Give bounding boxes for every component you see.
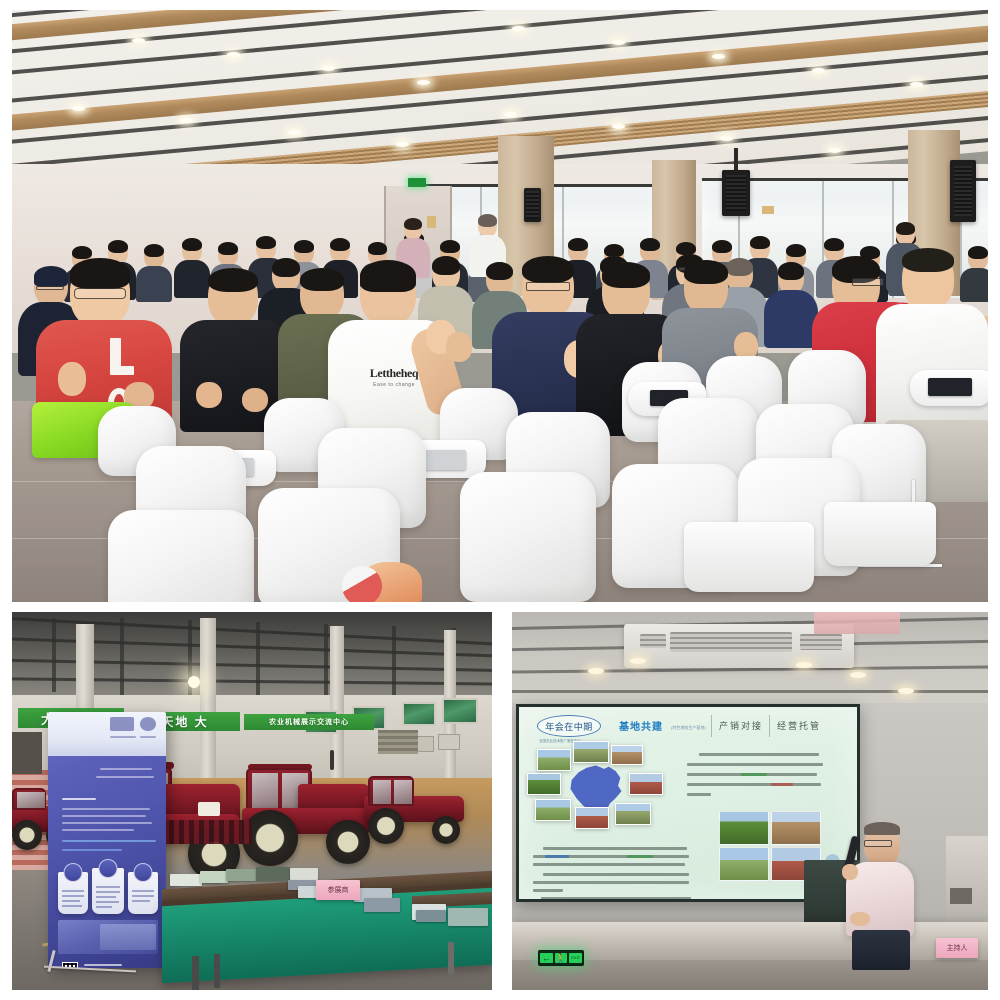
ceiling-downlight (898, 688, 914, 694)
rollup-header (48, 712, 166, 756)
slide-thumbnail (575, 807, 609, 829)
tractor-mid (234, 764, 380, 866)
photo-tractor-exhibition-hall: 大地农业 天地 大 农业机械展示交流中心 (12, 612, 492, 990)
wall-window (402, 702, 436, 726)
exit-arrow-icon: ← (540, 953, 553, 964)
slide-tab-active: 基地共建 (619, 717, 663, 733)
slide-logo: 年会在中期 (537, 715, 601, 737)
stacked-goods (378, 730, 418, 754)
slide-thumbnail (629, 773, 663, 795)
card-icon (134, 863, 153, 882)
ceiling-downlight (630, 658, 646, 664)
brochure (170, 874, 202, 886)
brochure (364, 898, 400, 912)
slide-photo-grid-cell (771, 811, 821, 845)
table-leg (214, 954, 220, 988)
white-polo (876, 304, 988, 432)
ceiling-pink-glow (814, 612, 900, 634)
phone-on-tablet (422, 450, 466, 470)
photo-conference-hall-audience: Lettheheq Ease to change (12, 10, 988, 602)
side-cabinet-right (946, 836, 988, 922)
slide-photo-grid-cell (719, 811, 769, 845)
brochure (226, 869, 256, 881)
slide-thumbnail (615, 803, 651, 825)
brochure (290, 868, 318, 880)
brochure (416, 910, 446, 922)
table-leg (192, 956, 199, 990)
card-icon (64, 863, 83, 882)
slide-photo-grid-cell (719, 847, 769, 881)
shirt-graphic-L-foot (110, 366, 134, 375)
slide-thumbnail (537, 749, 571, 771)
head (360, 260, 416, 326)
emergency-exit-sign: ← 🚶 EXIT (538, 950, 584, 966)
slide-tab-3: 经营托管 (777, 717, 821, 733)
chair (108, 510, 254, 602)
presenter-hair (864, 822, 900, 835)
presenter-glasses (864, 840, 892, 847)
exit-text-cell: EXIT (569, 953, 582, 964)
exit-running-man-icon: 🚶 (555, 953, 568, 964)
pink-name-placard: 参展商 (316, 880, 360, 900)
slide-thumbnail (535, 799, 571, 821)
info-card (92, 868, 124, 914)
brochure (448, 908, 488, 926)
slide-tab-2: 产销对接 (719, 717, 763, 733)
photo-lecture-room-presentation: 年会在中期 全国农业技术推广服务中心 基地共建 (特色增效生产基地) 产销对接 … (512, 612, 988, 990)
ceiling-downlight (796, 662, 812, 668)
info-card (128, 872, 158, 914)
overhead-lamp (188, 676, 200, 688)
table-leg (448, 942, 454, 974)
wall-equipment (438, 734, 460, 750)
brochure (200, 871, 228, 883)
tractor-rear (364, 774, 468, 846)
side-equipment (950, 888, 972, 904)
photo-collage: Lettheheq Ease to change (0, 0, 1000, 1000)
slide-thumbnail (611, 745, 643, 765)
presenter-hand (850, 912, 870, 926)
green-banner-right: 农业机械展示交流中心 (244, 714, 374, 730)
slide-thumbnail (573, 741, 609, 763)
ceiling-downlight (588, 668, 604, 674)
ceiling-downlight (850, 672, 866, 678)
chair-seat (824, 502, 936, 566)
tractor-badge (198, 802, 220, 816)
crate-left (12, 732, 42, 774)
glasses (74, 288, 126, 299)
info-card (58, 872, 88, 914)
presenter-trousers (852, 930, 910, 970)
presenter-hand (842, 864, 858, 880)
blue-rollup-banner (48, 712, 166, 968)
rollup-caption-plate (100, 924, 156, 950)
slide-thumbnail (527, 773, 561, 795)
red-ball-object (342, 566, 382, 602)
wall-window (442, 698, 478, 724)
brochure (256, 867, 290, 881)
chair-seat (684, 522, 814, 592)
slide-tab-active-sub: (特色增效生产基地) (671, 725, 706, 731)
phone-on-tablet (928, 378, 972, 396)
chair (460, 472, 596, 602)
pink-name-placard: 主持人 (936, 938, 978, 958)
card-icon (99, 859, 118, 878)
